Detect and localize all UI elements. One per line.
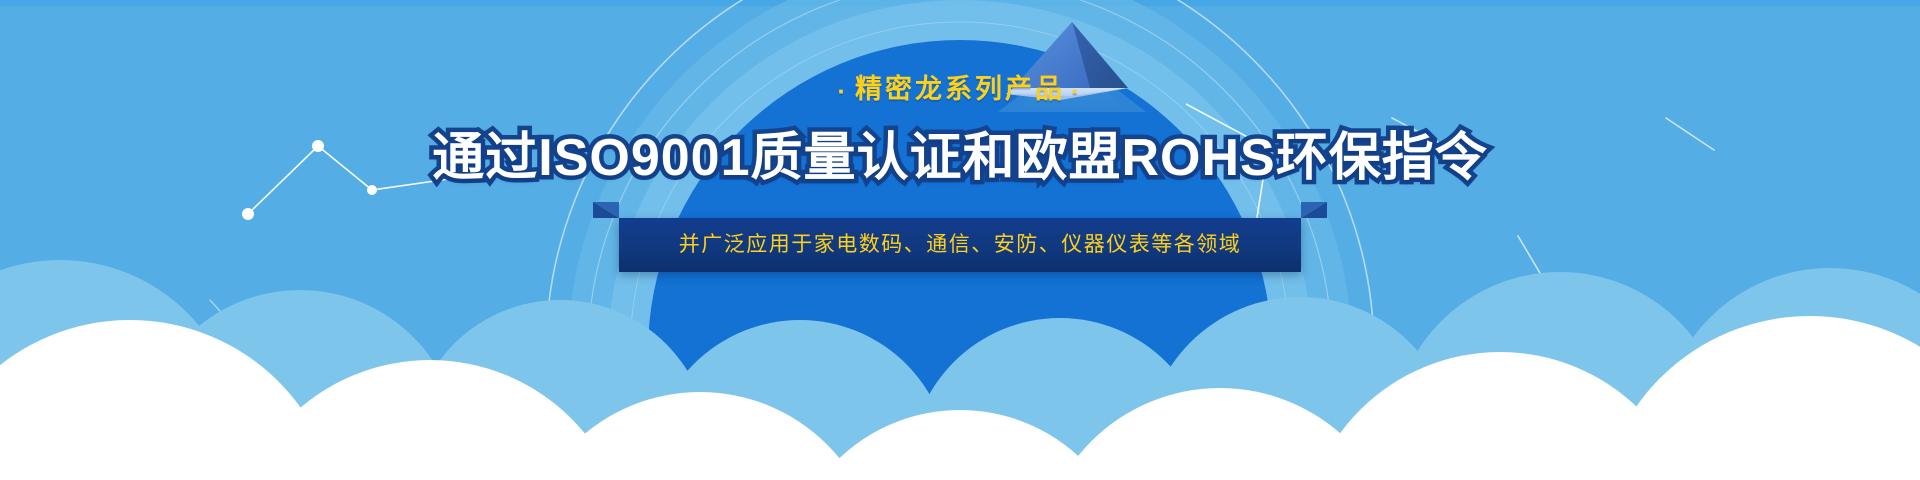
- promo-banner: ·精密龙系列产品· 通过ISO9001质量认证和欧盟ROHS环保指令 并广泛应用…: [0, 0, 1920, 480]
- banner-background: [0, 0, 1920, 480]
